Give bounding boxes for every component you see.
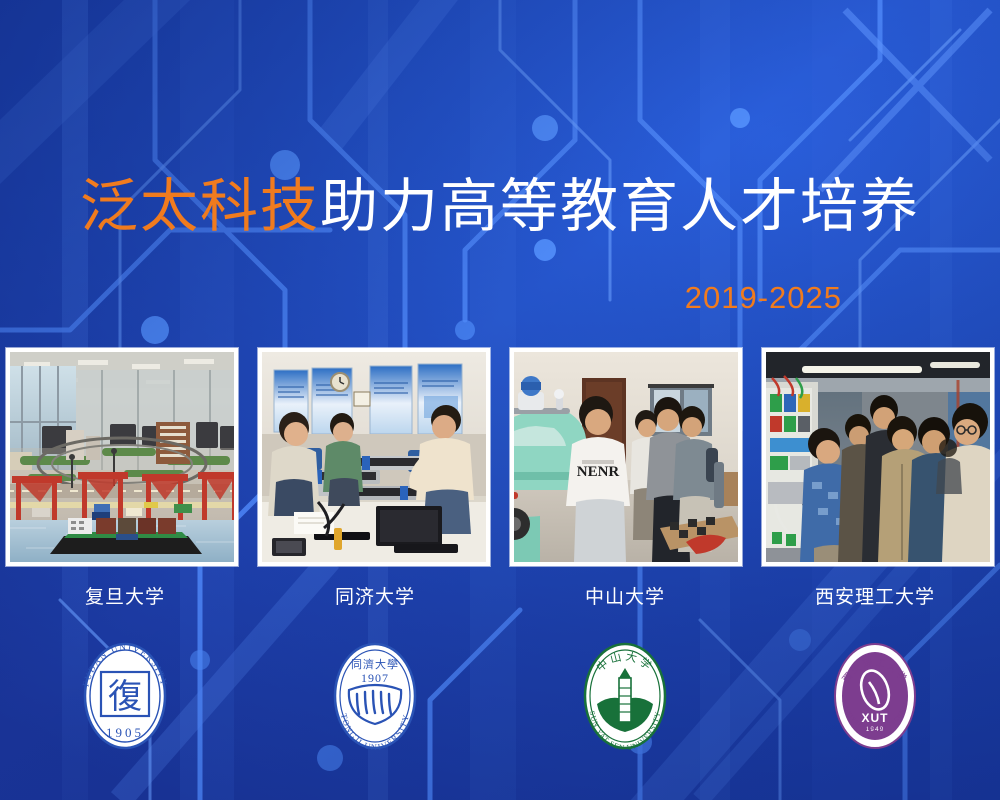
caption-fudan: 复旦大学 (0, 582, 250, 612)
caption-sysu: 中山大学 (500, 582, 750, 612)
title-brand: 泛太科技 (80, 174, 320, 239)
svg-text:1907: 1907 (361, 671, 389, 685)
logo-cell-sysu: 中山大学 SUN YAT-SEN UNIVERSITY (500, 636, 750, 756)
photo-gallery: NENR (0, 348, 1000, 566)
svg-text:NENR: NENR (577, 464, 620, 480)
fudan-university-logo: FUDAN UNIVERSITY 復 1905 (73, 638, 177, 754)
sun-yat-sen-university-logo: 中山大学 SUN YAT-SEN UNIVERSITY (573, 638, 677, 754)
xian-university-of-technology-logo: 西安理工大学 XUT 1949 XI'AN UNIVERSITY OF TECH… (823, 638, 927, 754)
svg-text:XUT: XUT (862, 711, 889, 725)
poster-title: 泛太科技助力高等教育人才培养 (0, 178, 1000, 236)
photo-frame-2 (258, 348, 490, 566)
poster-year-range: 2019-2025 (685, 280, 842, 316)
photo-sysu-autonomous-vehicle: NENR (514, 352, 738, 562)
title-rest: 助力高等教育人才培养 (320, 174, 920, 239)
logo-cell-tongji: 同濟大學 1907 TONGJI UNIVERSITY (250, 636, 500, 756)
photo-tongji-students-lab-benchwork (262, 352, 486, 562)
logo-cell-xut: 西安理工大学 XUT 1949 XI'AN UNIVERSITY OF TECH… (750, 636, 1000, 756)
svg-text:1905: 1905 (106, 725, 144, 740)
caption-tongji: 同济大学 (250, 582, 500, 612)
poster-canvas: 泛太科技助力高等教育人才培养 2019-2025 (0, 0, 1000, 800)
photo-fudan-port-city-scale-model (10, 352, 234, 562)
photo-frame-4 (762, 348, 994, 566)
tongji-university-logo: 同濟大學 1907 TONGJI UNIVERSITY (323, 638, 427, 754)
svg-text:同濟大學: 同濟大學 (351, 657, 399, 671)
university-caption-row: 复旦大学 同济大学 中山大学 西安理工大学 (0, 582, 1000, 612)
university-logo-row: FUDAN UNIVERSITY 復 1905 同濟大學 1907 (0, 636, 1000, 756)
photo-frame-1 (6, 348, 238, 566)
logo-cell-fudan: FUDAN UNIVERSITY 復 1905 (0, 636, 250, 756)
caption-xut: 西安理工大学 (750, 582, 1000, 612)
svg-text:復: 復 (108, 678, 142, 716)
photo-frame-3: NENR (510, 348, 742, 566)
photo-xut-students-equipment-demo (766, 352, 990, 562)
